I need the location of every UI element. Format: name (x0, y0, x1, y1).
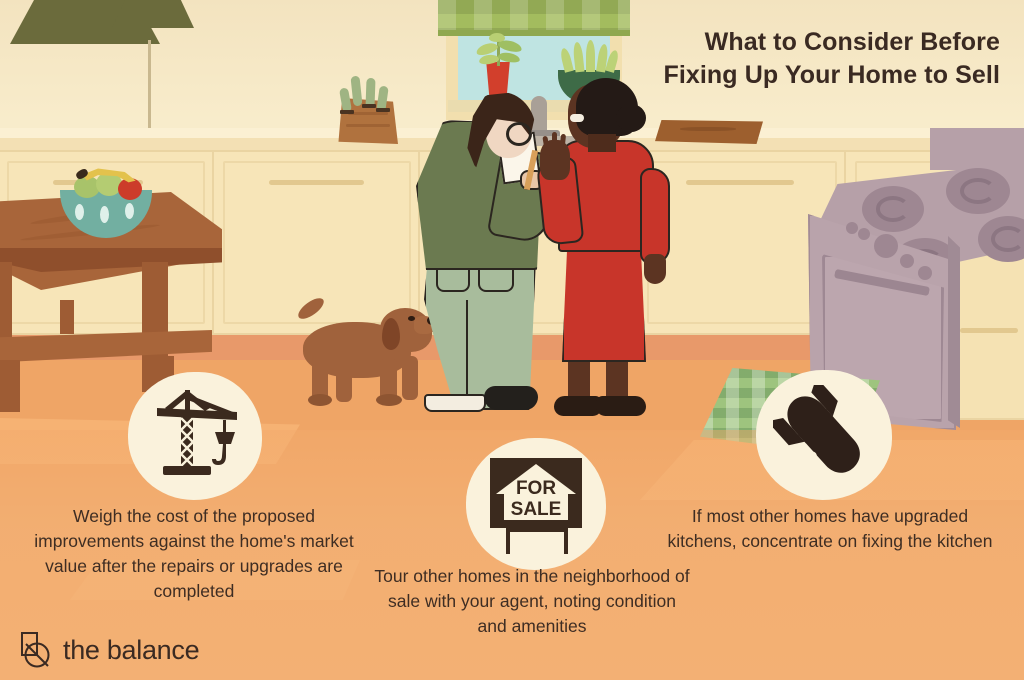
caption-cost-vs-value: Weigh the cost of the proposed improveme… (18, 504, 370, 603)
the-balance-logo[interactable]: the balance (18, 630, 199, 670)
bowl-pattern-dot (100, 206, 109, 223)
cabinet-handle (960, 328, 1018, 333)
island-leg (0, 360, 20, 412)
dog-leg (336, 362, 352, 402)
valance-edge (438, 30, 630, 36)
wood-grain (346, 124, 390, 127)
sign-text-for: FOR (516, 478, 556, 499)
person-red-finger (552, 132, 557, 154)
for-sale-sign-icon-bubble: FOR SALE (466, 438, 606, 570)
bowl-pattern-dot (125, 203, 134, 219)
knife-block-slot (340, 110, 354, 114)
pants-crease (466, 300, 468, 396)
window-valance (438, 0, 630, 34)
caption-tour-homes: Tour other homes in the neighborhood of … (372, 564, 692, 639)
dog-paw (376, 394, 402, 406)
person-red-shoe (596, 396, 646, 416)
person-red-skirt (562, 250, 646, 362)
caption-focus-kitchen: If most other homes have upgraded kitche… (662, 504, 998, 554)
pendant-lamp (112, 0, 194, 28)
wood-grain (680, 127, 736, 131)
dog-eye (408, 316, 415, 321)
sign-text-sale: SALE (511, 499, 562, 520)
cabinet-handle (269, 180, 364, 185)
plant-leaf (489, 33, 505, 42)
person-green-shoe (484, 386, 538, 410)
balance-logo-mark (18, 630, 54, 670)
crane-icon (143, 386, 247, 486)
logo-text: the balance (63, 635, 199, 666)
stove-burner (862, 186, 924, 232)
infographic-canvas: What to Consider Before Fixing Up Your H… (0, 0, 1024, 680)
valance-pattern (438, 0, 630, 34)
person-red-hand (644, 254, 666, 284)
person-red-mouth (570, 114, 584, 122)
stove-knob (874, 234, 898, 258)
person-red-hair-bun (616, 104, 646, 132)
dog-leg (402, 356, 418, 400)
herb-sprout (586, 40, 595, 72)
knife-block-slot (376, 108, 390, 112)
person-green-shoe (424, 394, 486, 412)
for-sale-sign-icon: FOR SALE (480, 450, 592, 558)
person-red-neck (588, 134, 616, 152)
person-red-shoe (554, 396, 602, 416)
knife-block-slot (362, 104, 376, 108)
page-title: What to Consider Before Fixing Up Your H… (620, 26, 1000, 92)
stove-knob (846, 222, 858, 234)
stove-burner (946, 168, 1010, 214)
stove-knob (900, 254, 914, 268)
crane-icon-bubble (128, 372, 262, 500)
stove-side-panel (948, 236, 960, 428)
wood-grain (348, 112, 388, 115)
bowl-pattern-dot (75, 204, 84, 220)
title-line-2: Fixing Up Your Home to Sell (620, 59, 1000, 92)
stove-knob (858, 228, 870, 240)
dog-paw (308, 394, 332, 406)
person-red-arm (640, 168, 670, 264)
stove-knob (918, 266, 932, 280)
title-line-1: What to Consider Before (620, 26, 1000, 59)
cutting-board (655, 120, 763, 144)
person-green-glasses (506, 122, 532, 146)
dog-ear (382, 318, 400, 350)
cabinet-handle (686, 180, 794, 185)
wrench-icon (773, 385, 875, 485)
island-leg (60, 300, 74, 334)
wrench-icon-bubble (756, 370, 892, 500)
